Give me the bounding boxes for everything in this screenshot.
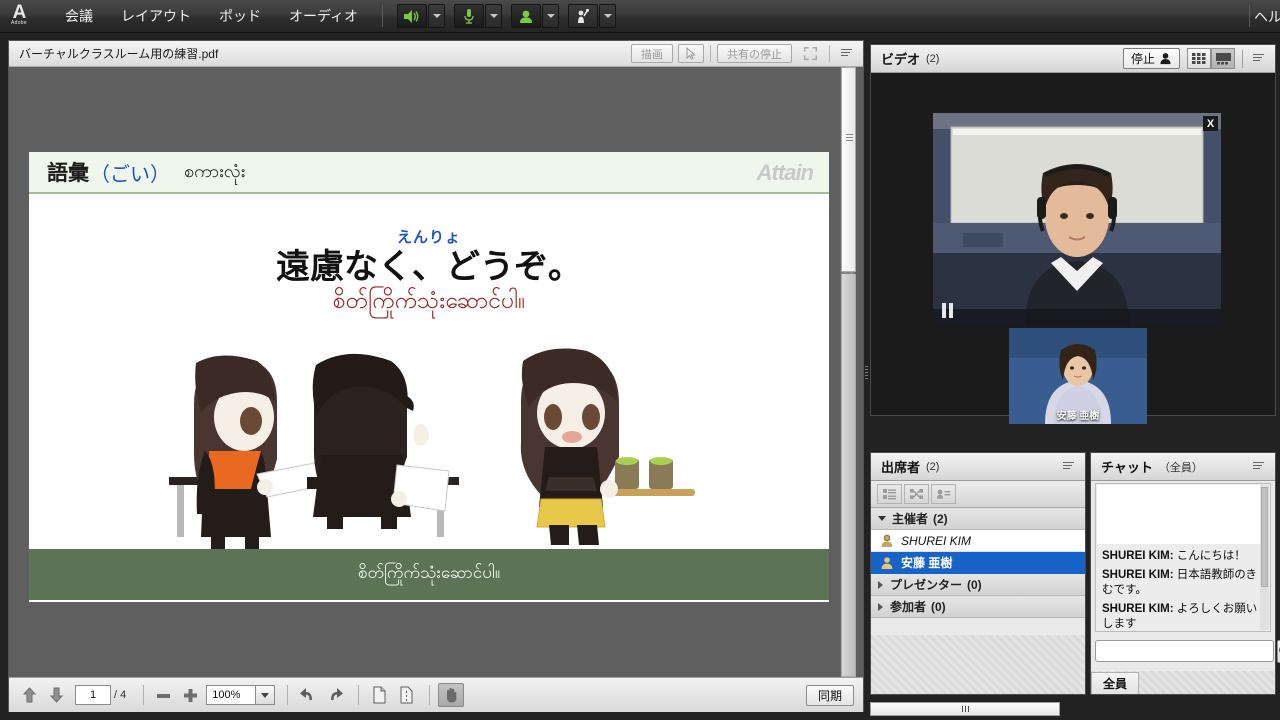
chat-message-sender: SHUREI KIM: xyxy=(1102,603,1174,615)
toolbar-divider-5 xyxy=(358,685,359,705)
attendee-icon xyxy=(880,556,894,570)
slide-page: 語彙 （ごい） စကားလုံး Attain えんりょ 遠慮なく、どうぞ。 စ… xyxy=(29,152,829,602)
undo-button[interactable] xyxy=(296,683,320,707)
name-view-icon xyxy=(936,488,951,500)
share-pod-body: 語彙 （ごい） စကားလုံး Attain えんりょ 遠慮なく、どうぞ。 စ… xyxy=(9,67,863,712)
chevron-down-icon xyxy=(433,14,441,18)
chat-scrollbar[interactable] xyxy=(1260,485,1269,630)
chat-message-sender: SHUREI KIM: xyxy=(1102,550,1174,562)
video-pod-menu-button[interactable] xyxy=(1248,49,1268,68)
slide-illustration xyxy=(29,339,829,549)
chat-message: SHUREI KIM: こんにちは！ xyxy=(1096,545,1270,564)
toolbar-divider-6 xyxy=(429,685,430,705)
zoom-in-button[interactable] xyxy=(179,684,201,706)
draw-button[interactable]: 描画 xyxy=(631,44,673,63)
attendee-group-participants-count: (0) xyxy=(931,600,946,614)
attendee-name: SHUREI KIM xyxy=(901,534,971,548)
menu-meeting[interactable]: 会議 xyxy=(51,3,107,29)
attendee-pod-count: (2) xyxy=(926,461,1058,473)
menu-items: 会議 レイアウト ポッド オーディオ xyxy=(51,3,372,29)
share-pod-titlebar: バーチャルクラスルーム用の練習.pdf 描画 共有の停止 xyxy=(9,41,863,67)
attain-logo: Attain xyxy=(757,160,813,186)
previous-page-button[interactable] xyxy=(18,684,40,706)
chat-blank-space xyxy=(1097,485,1269,544)
arrow-up-icon xyxy=(23,687,36,703)
slide-footer-text: စိတ်ကြိုက်သုံးဆောင်ပါ။ xyxy=(358,562,500,587)
zoom-level-dropdown[interactable] xyxy=(256,685,275,705)
page-split-icon xyxy=(399,686,414,704)
character-left xyxy=(194,355,325,549)
attendee-group-presenters-label: プレゼンター xyxy=(890,576,962,593)
toolbar-divider-4 xyxy=(287,685,288,705)
page-icon xyxy=(372,686,387,704)
attendee-icon xyxy=(880,534,894,548)
share-pod-filename: バーチャルクラスルーム用の練習.pdf xyxy=(19,45,631,62)
microphone-icon xyxy=(462,8,476,25)
character-center xyxy=(307,354,449,529)
video-pod-count: (2) xyxy=(926,53,1123,65)
video-pod-title: ビデオ xyxy=(881,49,920,68)
chat-message: SHUREI KIM: よろしくお願いします xyxy=(1096,598,1270,632)
attendee-group-participants[interactable]: 参加者 (0) xyxy=(871,596,1085,618)
fullscreen-icon xyxy=(803,46,818,61)
stop-share-button[interactable]: 共有の停止 xyxy=(717,44,792,63)
scrollbar-grip-icon xyxy=(846,134,853,143)
menu-pod[interactable]: ポッド xyxy=(205,3,275,29)
video-header-divider xyxy=(1242,50,1243,68)
slide-footer: စိတ်ကြိုက်သုံးဆောင်ပါ။ xyxy=(29,549,829,600)
zoom-out-button[interactable] xyxy=(152,684,174,706)
character-right xyxy=(521,349,695,545)
video-layout-toggle xyxy=(1187,48,1235,69)
attendee-group-hosts-label: 主催者 xyxy=(892,510,928,527)
grid-layout-button[interactable] xyxy=(1187,48,1211,69)
pointer-icon xyxy=(685,47,697,60)
chat-message: SHUREI KIM: 日本語教師のきむです。 xyxy=(1096,564,1270,598)
slide-header-title-jp: 語彙 xyxy=(47,157,89,187)
vertical-drag-handle[interactable] xyxy=(864,355,869,389)
slide-main-japanese: 遠慮なく、どうぞ。 xyxy=(29,247,829,287)
pause-icon xyxy=(942,303,946,318)
av-tool-group xyxy=(397,4,625,28)
pod-menu-icon xyxy=(841,49,852,58)
page-total-label: / 4 xyxy=(114,689,126,701)
pod-menu-icon xyxy=(1253,54,1264,63)
menubar-divider xyxy=(382,5,383,27)
chevron-right-icon xyxy=(878,581,883,589)
main-video-tile[interactable]: X xyxy=(933,113,1221,325)
document-scrollbar-track-lower[interactable] xyxy=(841,274,856,677)
person-icon xyxy=(1159,52,1172,65)
slide-main-burmese: စိတ်ကြိုက်သုံးဆောင်ပါ။ xyxy=(29,285,829,315)
webcam-dropdown[interactable] xyxy=(542,4,559,28)
toolbar-divider-2 xyxy=(829,45,830,62)
chat-scrollbar-thumb[interactable] xyxy=(1261,487,1268,587)
close-video-button[interactable]: X xyxy=(1203,116,1218,131)
attendee-group-hosts[interactable]: 主催者 (2) xyxy=(871,508,1085,530)
webcam-toggle[interactable] xyxy=(511,4,541,28)
horizontal-drag-handle[interactable] xyxy=(870,702,1060,716)
video-pod-header: ビデオ (2) 停止 xyxy=(871,45,1275,73)
video-stop-button[interactable]: 停止 xyxy=(1123,48,1180,69)
document-viewport[interactable]: 語彙 （ごい） စကားလုံး Attain えんりょ 遠慮なく、どうぞ。 စ… xyxy=(9,67,838,677)
menu-help[interactable]: ヘルプ xyxy=(1254,7,1280,27)
speaker-toggle[interactable] xyxy=(397,4,427,28)
breakout-view-icon xyxy=(909,488,924,500)
pause-icon-2 xyxy=(949,303,953,318)
chevron-down-icon xyxy=(261,693,269,698)
pointer-button[interactable] xyxy=(678,44,704,63)
chevron-down-icon xyxy=(490,14,498,18)
chat-pod-scope: （全員） xyxy=(1159,459,1248,475)
page-fit-button[interactable] xyxy=(367,683,391,707)
list-view-icon xyxy=(882,488,897,500)
chevron-down-icon xyxy=(604,14,612,18)
breakout-view-button[interactable] xyxy=(904,484,929,504)
attendee-list: 主催者 (2) SHUREI KIM 安藤 亜樹 プレゼンター (0) xyxy=(871,508,1085,618)
menubar-divider-right xyxy=(1249,5,1250,27)
microphone-toggle[interactable] xyxy=(454,4,484,28)
adobe-logo: A Adobe xyxy=(3,0,35,33)
chevron-down-icon xyxy=(878,516,886,521)
attendee-pod-title: 出席者 xyxy=(881,457,920,476)
chat-tabs: 全員 xyxy=(1091,671,1275,694)
speaker-dropdown[interactable] xyxy=(428,4,445,28)
attendee-pod-menu-button[interactable] xyxy=(1058,457,1078,476)
main-menubar: A Adobe 会議 レイアウト ポッド オーディオ xyxy=(0,0,1280,33)
attendee-empty-area xyxy=(871,635,1085,694)
chevron-right-icon xyxy=(878,603,883,611)
microphone-dropdown[interactable] xyxy=(485,4,502,28)
grid-layout-icon xyxy=(1191,52,1207,65)
raise-hand-dropdown[interactable] xyxy=(599,4,616,28)
speaker-icon xyxy=(403,9,421,24)
characters-illustration xyxy=(149,339,709,549)
attendee-group-presenters[interactable]: プレゼンター (0) xyxy=(871,574,1085,596)
filmstrip-layout-button[interactable] xyxy=(1211,48,1235,69)
minus-icon xyxy=(156,688,171,703)
chat-pod-header: チャット （全員） xyxy=(1091,453,1275,481)
chat-pod: チャット （全員） SHUREI KIM: こんにちは！ SHUREI KIM:… xyxy=(1090,452,1276,695)
slide-furigana: えんりょ xyxy=(29,226,829,247)
name-view-button[interactable] xyxy=(931,484,956,504)
raise-hand-icon xyxy=(575,8,591,24)
attendee-group-presenters-count: (0) xyxy=(967,578,982,592)
plus-icon xyxy=(183,688,198,703)
menu-layout[interactable]: レイアウト xyxy=(107,3,205,29)
thumbnail-video-tile[interactable]: 安藤 亜樹 xyxy=(1009,328,1147,424)
video-pod: ビデオ (2) 停止 xyxy=(870,44,1276,416)
menu-audio[interactable]: オーディオ xyxy=(275,3,372,29)
document-scrollbar[interactable] xyxy=(840,67,855,677)
chat-message-text: こんにちは！ xyxy=(1177,550,1246,562)
page-number-input[interactable]: 1 xyxy=(75,685,111,705)
document-scrollbar-thumb[interactable] xyxy=(841,67,856,272)
slide-header-title-my: စကားလုံး xyxy=(184,159,245,186)
video-stop-label: 停止 xyxy=(1131,50,1155,67)
chat-tab-everyone[interactable]: 全員 xyxy=(1091,672,1139,694)
adobe-connect-window: A Adobe 会議 レイアウト ポッド オーディオ xyxy=(0,0,1280,720)
filmstrip-layout-icon xyxy=(1215,52,1232,65)
attendee-name: 安藤 亜樹 xyxy=(901,554,952,571)
pod-menu-icon xyxy=(1253,462,1264,471)
zoom-level-input[interactable]: 100% xyxy=(206,685,256,705)
webcam-icon xyxy=(518,9,534,24)
raise-hand-toggle[interactable] xyxy=(568,4,598,28)
hand-tool-button[interactable] xyxy=(438,683,464,707)
share-pod: バーチャルクラスルーム用の練習.pdf 描画 共有の停止 xyxy=(8,40,864,712)
chevron-down-icon xyxy=(547,14,555,18)
adobe-logo-text: Adobe xyxy=(11,20,27,27)
slide-main: えんりょ 遠慮なく、どうぞ。 စိတ်ကြိုက်သုံးဆောင်ပါ။ xyxy=(29,194,829,549)
list-view-button[interactable] xyxy=(877,484,902,504)
chat-message-list[interactable]: SHUREI KIM: こんにちは！ SHUREI KIM: 日本語教師のきむで… xyxy=(1095,483,1271,632)
slide-header: 語彙 （ごい） စကားလုံး Attain xyxy=(29,152,829,194)
attendee-view-toolbar xyxy=(871,481,1085,508)
chat-pod-menu-button[interactable] xyxy=(1248,457,1268,476)
slide-phrase-block: えんりょ 遠慮なく、どうぞ。 စိတ်ကြိုက်သုံးဆောင်ပါ။ xyxy=(29,226,829,315)
attendee-row-ando-aki[interactable]: 安藤 亜樹 xyxy=(871,552,1085,574)
chat-pod-title: チャット xyxy=(1101,457,1153,476)
attendee-group-hosts-count: (2) xyxy=(933,512,948,526)
toolbar-divider-3 xyxy=(143,685,144,705)
slide-header-title-kana: （ごい） xyxy=(90,158,170,187)
redo-icon xyxy=(326,687,344,703)
hand-icon xyxy=(444,687,459,703)
toolbar-divider xyxy=(710,45,711,62)
arrow-down-icon xyxy=(50,687,63,703)
chat-input[interactable] xyxy=(1095,640,1274,662)
attendee-pod: 出席者 (2) xyxy=(870,452,1086,695)
pod-menu-icon xyxy=(1063,462,1074,471)
video-pod-body: X 安藤 亜樹 xyxy=(871,73,1275,415)
share-pod-menu-button[interactable] xyxy=(836,44,856,63)
chat-message-sender: SHUREI KIM: xyxy=(1102,569,1174,581)
redo-button[interactable] xyxy=(323,683,347,707)
sync-button[interactable]: 同期 xyxy=(806,685,854,706)
undo-icon xyxy=(299,687,317,703)
next-page-button[interactable] xyxy=(45,684,67,706)
main-video-feed xyxy=(933,113,1221,325)
chat-input-row xyxy=(1095,638,1271,664)
fullscreen-button[interactable] xyxy=(797,44,823,63)
attendee-group-participants-label: 参加者 xyxy=(890,598,926,615)
thumbnail-video-label: 安藤 亜樹 xyxy=(1009,407,1147,422)
document-toolbar: 1 / 4 100% xyxy=(9,677,863,712)
attendee-row-shurei-kim[interactable]: SHUREI KIM xyxy=(871,530,1085,552)
page-split-button[interactable] xyxy=(394,683,418,707)
pause-video-button[interactable] xyxy=(942,303,958,318)
attendee-pod-header: 出席者 (2) xyxy=(871,453,1085,481)
